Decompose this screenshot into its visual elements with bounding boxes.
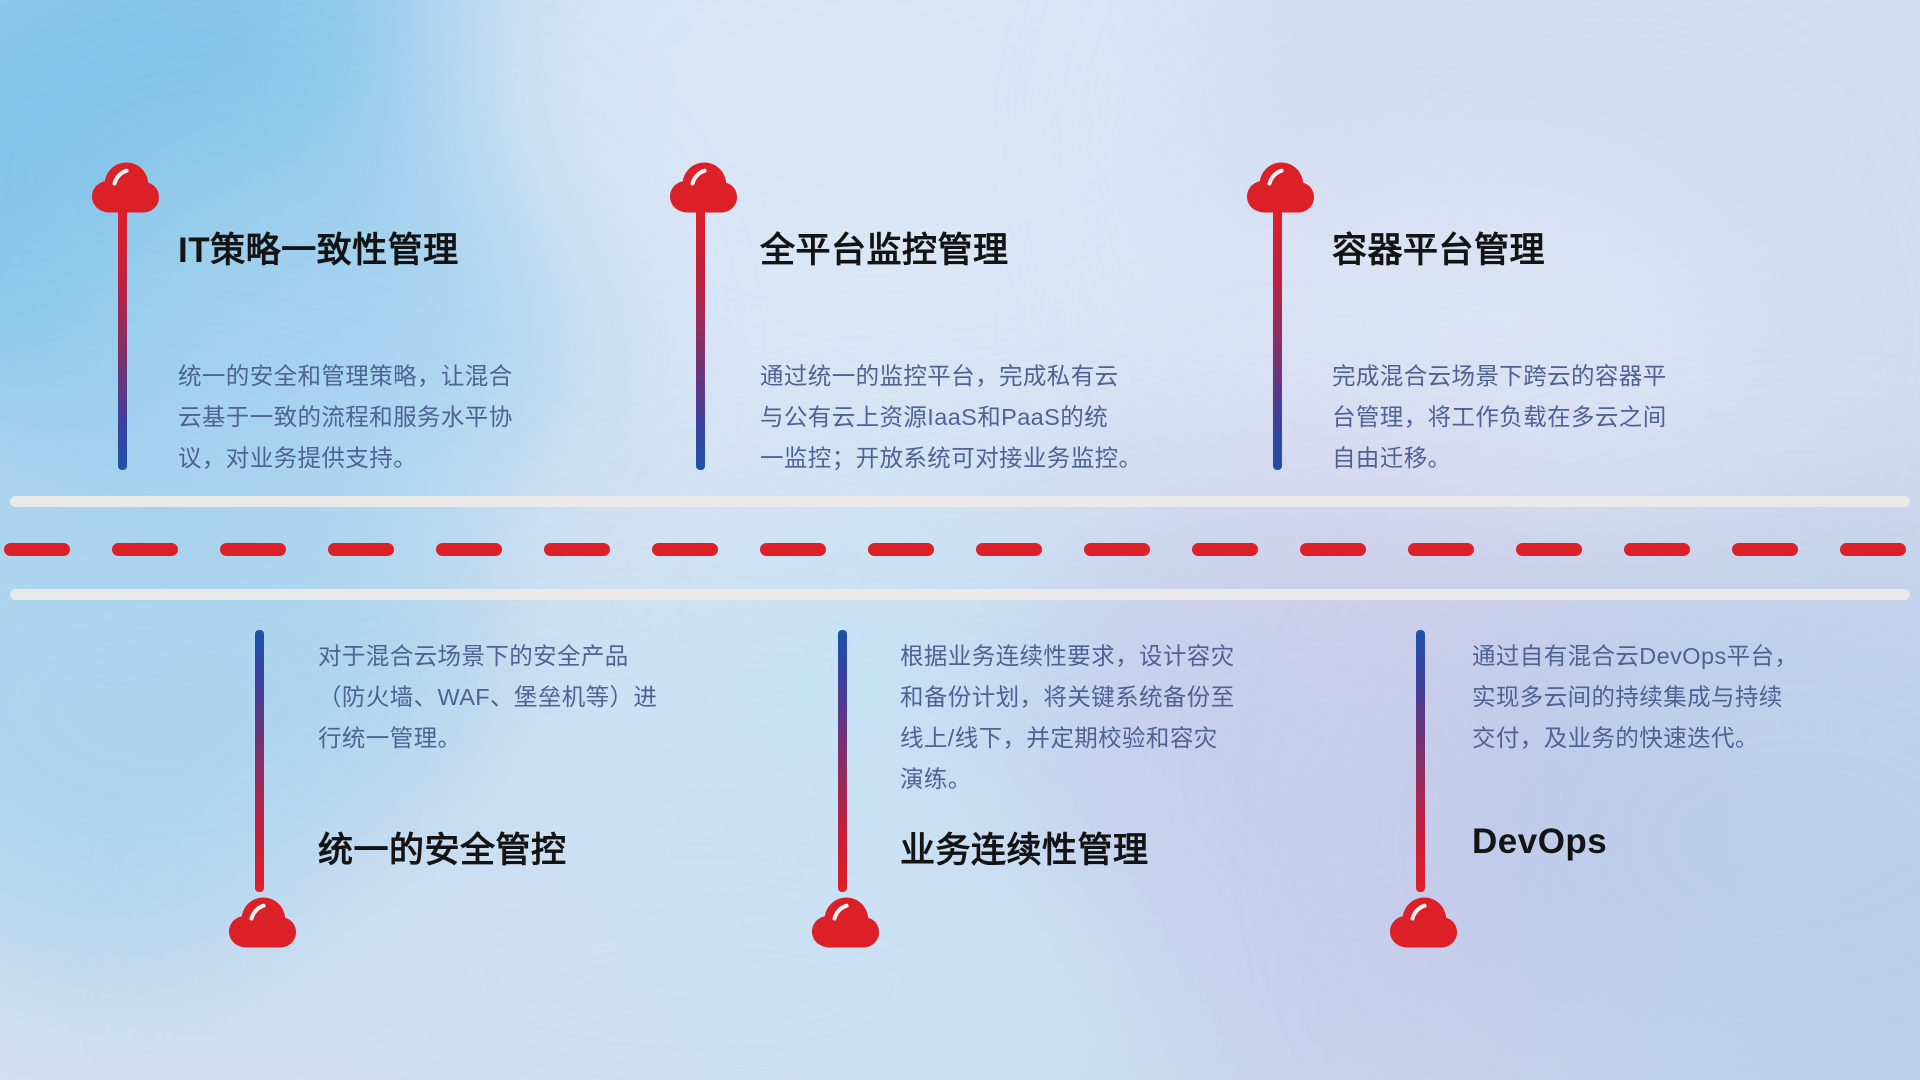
connector-pole bbox=[838, 630, 847, 892]
road-edge-line-bottom bbox=[10, 589, 1910, 600]
description-line: 自由迁移。 bbox=[1332, 438, 1762, 479]
description-line: 一监控；开放系统可对接业务监控。 bbox=[760, 438, 1200, 479]
road-dash-segment bbox=[112, 543, 178, 556]
description-line: 演练。 bbox=[900, 759, 1340, 800]
feature-description: 统一的安全和管理策略，让混合 云基于一致的流程和服务水平协 议，对业务提供支持。 bbox=[178, 356, 608, 479]
road-dash-segment bbox=[544, 543, 610, 556]
description-line: 议，对业务提供支持。 bbox=[178, 438, 608, 479]
description-line: 通过自有混合云DevOps平台， bbox=[1472, 636, 1892, 677]
feature-description: 对于混合云场景下的安全产品 （防火墙、WAF、堡垒机等）进 行统一管理。 bbox=[318, 636, 748, 759]
road-center-dashed-line bbox=[0, 543, 1920, 556]
road-dash-segment bbox=[652, 543, 718, 556]
description-line: 完成混合云场景下跨云的容器平 bbox=[1332, 356, 1762, 397]
description-line: 行统一管理。 bbox=[318, 718, 748, 759]
feature-title: DevOps bbox=[1472, 822, 1607, 862]
feature-description: 通过自有混合云DevOps平台， 实现多云间的持续集成与持续 交付，及业务的快速… bbox=[1472, 636, 1892, 759]
cloud-icon bbox=[227, 893, 297, 949]
cloud-icon bbox=[1388, 893, 1458, 949]
description-line: 和备份计划，将关键系统备份至 bbox=[900, 677, 1340, 718]
road-dash-segment bbox=[1732, 543, 1798, 556]
feature-title: 统一的安全管控 bbox=[318, 822, 567, 873]
road-dash-segment bbox=[1624, 543, 1690, 556]
description-line: 交付，及业务的快速迭代。 bbox=[1472, 718, 1892, 759]
feature-title: 全平台监控管理 bbox=[760, 222, 1009, 273]
description-line: 统一的安全和管理策略，让混合 bbox=[178, 356, 608, 397]
feature-description: 根据业务连续性要求，设计容灾 和备份计划，将关键系统备份至 线上/线下，并定期校… bbox=[900, 636, 1340, 800]
cloud-icon bbox=[810, 893, 880, 949]
road-dash-segment bbox=[4, 543, 70, 556]
road-dash-segment bbox=[1192, 543, 1258, 556]
road-edge-line-top bbox=[10, 496, 1910, 507]
description-line: 通过统一的监控平台，完成私有云 bbox=[760, 356, 1200, 397]
feature-title: 业务连续性管理 bbox=[900, 822, 1149, 873]
description-line: 实现多云间的持续集成与持续 bbox=[1472, 677, 1892, 718]
road-dash-segment bbox=[760, 543, 826, 556]
road-dash-segment bbox=[1516, 543, 1582, 556]
description-line: 云基于一致的流程和服务水平协 bbox=[178, 397, 608, 438]
feature-title: 容器平台管理 bbox=[1332, 222, 1545, 273]
connector-pole bbox=[118, 205, 127, 470]
description-line: 对于混合云场景下的安全产品 bbox=[318, 636, 748, 677]
road-dash-segment bbox=[1084, 543, 1150, 556]
connector-pole bbox=[696, 205, 705, 470]
feature-description: 通过统一的监控平台，完成私有云 与公有云上资源IaaS和PaaS的统 一监控；开… bbox=[760, 356, 1200, 479]
description-line: （防火墙、WAF、堡垒机等）进 bbox=[318, 677, 748, 718]
road-dash-segment bbox=[868, 543, 934, 556]
road-dash-segment bbox=[1300, 543, 1366, 556]
road-dash-segment bbox=[1408, 543, 1474, 556]
feature-description: 完成混合云场景下跨云的容器平 台管理，将工作负载在多云之间 自由迁移。 bbox=[1332, 356, 1762, 479]
road-divider bbox=[0, 496, 1920, 600]
connector-pole bbox=[1273, 205, 1282, 470]
description-line: 根据业务连续性要求，设计容灾 bbox=[900, 636, 1340, 677]
road-dash-segment bbox=[976, 543, 1042, 556]
connector-pole bbox=[1416, 630, 1425, 892]
description-line: 与公有云上资源IaaS和PaaS的统 bbox=[760, 397, 1200, 438]
road-dash-segment bbox=[328, 543, 394, 556]
description-line: 线上/线下，并定期校验和容灾 bbox=[900, 718, 1340, 759]
connector-pole bbox=[255, 630, 264, 892]
road-dash-segment bbox=[220, 543, 286, 556]
description-line: 台管理，将工作负载在多云之间 bbox=[1332, 397, 1762, 438]
road-dash-segment bbox=[436, 543, 502, 556]
road-dash-segment bbox=[1840, 543, 1906, 556]
feature-title: IT策略一致性管理 bbox=[178, 222, 459, 273]
